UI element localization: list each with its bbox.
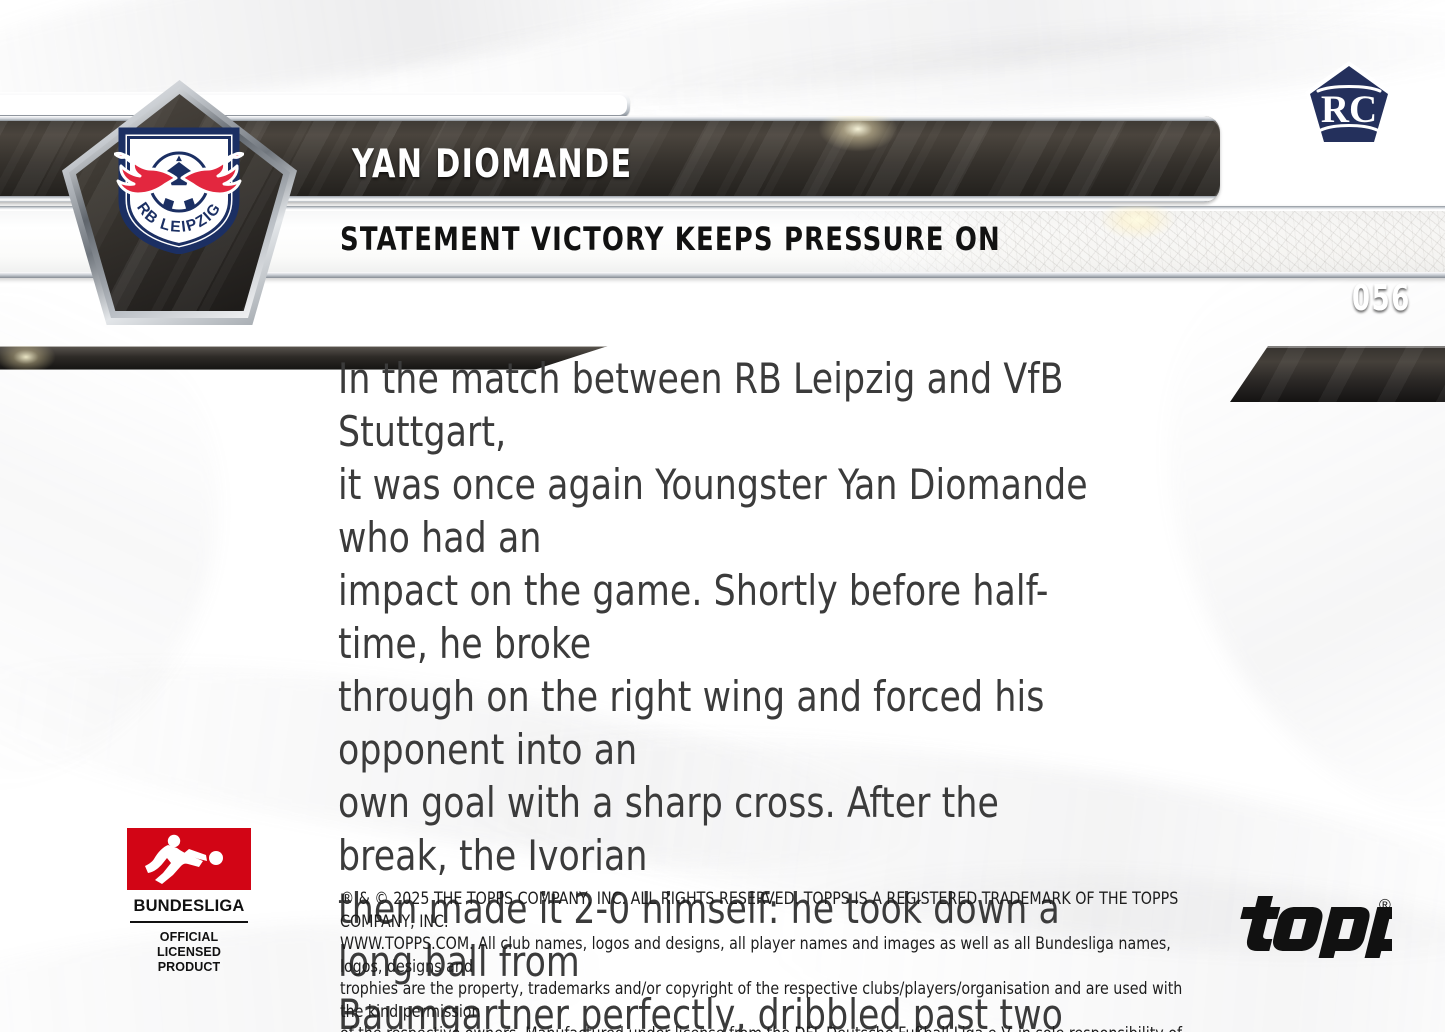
sparkle-icon <box>1098 206 1176 240</box>
page-title: YAN DIOMANDE <box>352 142 632 187</box>
club-crest-holder: RB LEIPZIG <box>62 80 297 325</box>
card-headline: STATEMENT VICTORY KEEPS PRESSURE ON <box>340 220 1001 258</box>
bundesliga-wordmark: BUNDESLIGA <box>127 897 251 916</box>
sparkle-icon <box>818 116 898 152</box>
trading-card-back: YAN DIOMANDE STATEMENT VICTORY KEEPS PRE… <box>0 0 1445 1032</box>
divider <box>130 921 248 923</box>
official-label: OFFICIAL <box>127 930 251 945</box>
topps-logo-icon: ® <box>1222 888 1392 958</box>
sparkle-icon <box>0 340 56 374</box>
card-number: 056 <box>1352 278 1411 319</box>
rb-leipzig-crest-icon: RB LEIPZIG <box>114 126 244 254</box>
licensed-product-label: LICENSED PRODUCT <box>127 945 251 975</box>
card-number-bar <box>1230 346 1445 402</box>
bundesliga-licensed-block: BUNDESLIGA OFFICIAL LICENSED PRODUCT <box>127 828 251 975</box>
rookie-card-badge-icon: RC <box>1301 58 1397 154</box>
svg-text:RC: RC <box>1321 88 1377 131</box>
bundesliga-logo-icon <box>127 828 251 890</box>
legal-copyright-text: ® & © 2025 THE TOPPS COMPANY, INC. ALL R… <box>340 888 1185 1032</box>
registered-mark: ® <box>1379 897 1391 914</box>
